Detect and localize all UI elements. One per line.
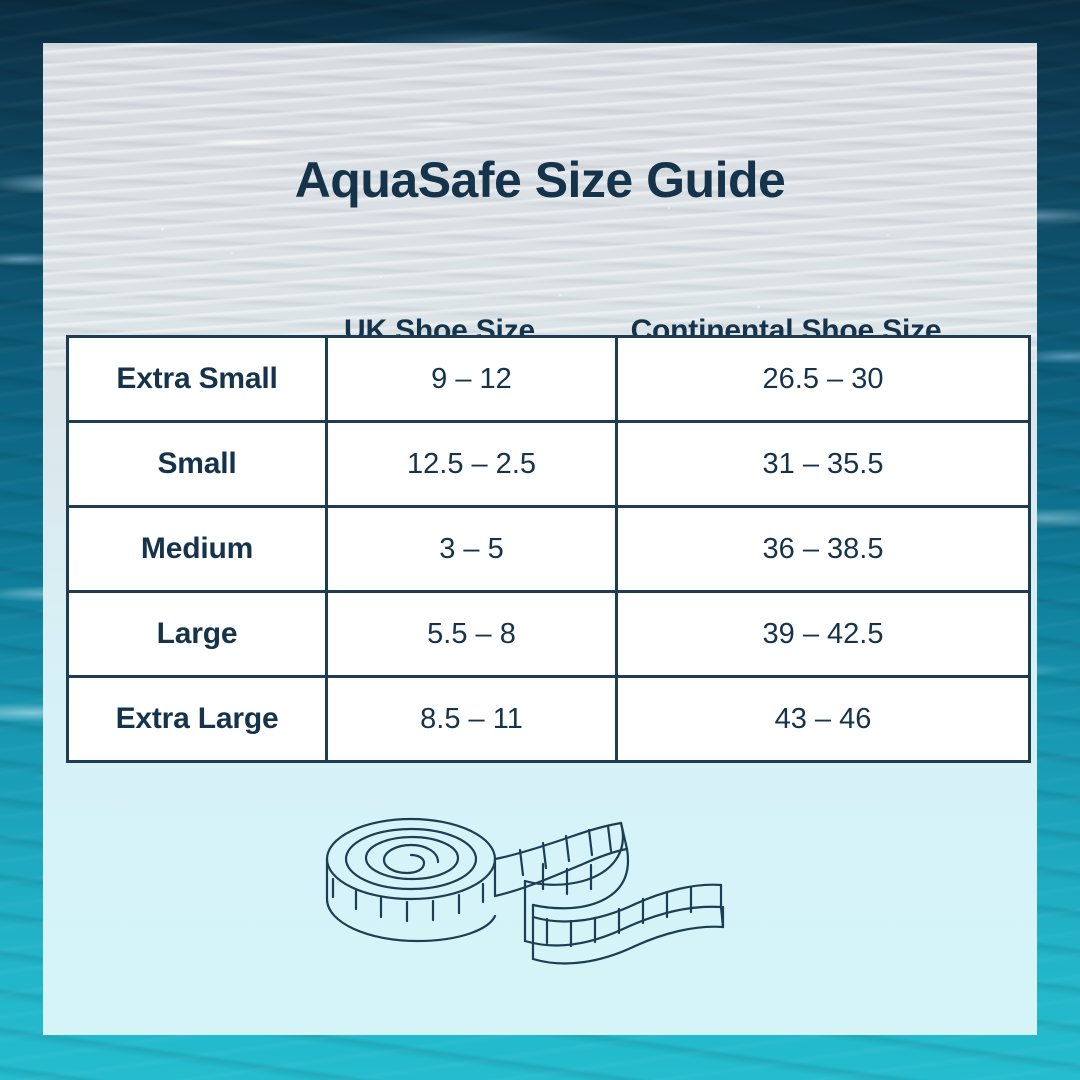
size-label-cell: Extra Large bbox=[68, 677, 327, 762]
size-guide-graphic: AquaSafe Size Guide UK Shoe Size Contine… bbox=[0, 0, 1080, 1080]
uk-size-cell: 12.5 – 2.5 bbox=[327, 422, 617, 507]
table-row: Extra Large 8.5 – 11 43 – 46 bbox=[68, 677, 1030, 762]
continental-size-cell: 36 – 38.5 bbox=[617, 507, 1030, 592]
uk-size-cell: 5.5 – 8 bbox=[327, 592, 617, 677]
measuring-tape-illustration bbox=[311, 801, 771, 1001]
continental-size-cell: 31 – 35.5 bbox=[617, 422, 1030, 507]
uk-size-cell: 9 – 12 bbox=[327, 337, 617, 422]
size-label-cell: Extra Small bbox=[68, 337, 327, 422]
table-row: Large 5.5 – 8 39 – 42.5 bbox=[68, 592, 1030, 677]
size-chart-table: Extra Small 9 – 12 26.5 – 30 Small 12.5 … bbox=[66, 335, 1031, 763]
page-title: AquaSafe Size Guide bbox=[43, 151, 1037, 209]
table-row: Medium 3 – 5 36 – 38.5 bbox=[68, 507, 1030, 592]
table-row: Extra Small 9 – 12 26.5 – 30 bbox=[68, 337, 1030, 422]
uk-size-cell: 8.5 – 11 bbox=[327, 677, 617, 762]
continental-size-cell: 43 – 46 bbox=[617, 677, 1030, 762]
size-label-cell: Medium bbox=[68, 507, 327, 592]
continental-size-cell: 39 – 42.5 bbox=[617, 592, 1030, 677]
table-row: Small 12.5 – 2.5 31 – 35.5 bbox=[68, 422, 1030, 507]
size-label-cell: Large bbox=[68, 592, 327, 677]
uk-size-cell: 3 – 5 bbox=[327, 507, 617, 592]
size-label-cell: Small bbox=[68, 422, 327, 507]
size-guide-card: AquaSafe Size Guide UK Shoe Size Contine… bbox=[43, 43, 1037, 1035]
continental-size-cell: 26.5 – 30 bbox=[617, 337, 1030, 422]
